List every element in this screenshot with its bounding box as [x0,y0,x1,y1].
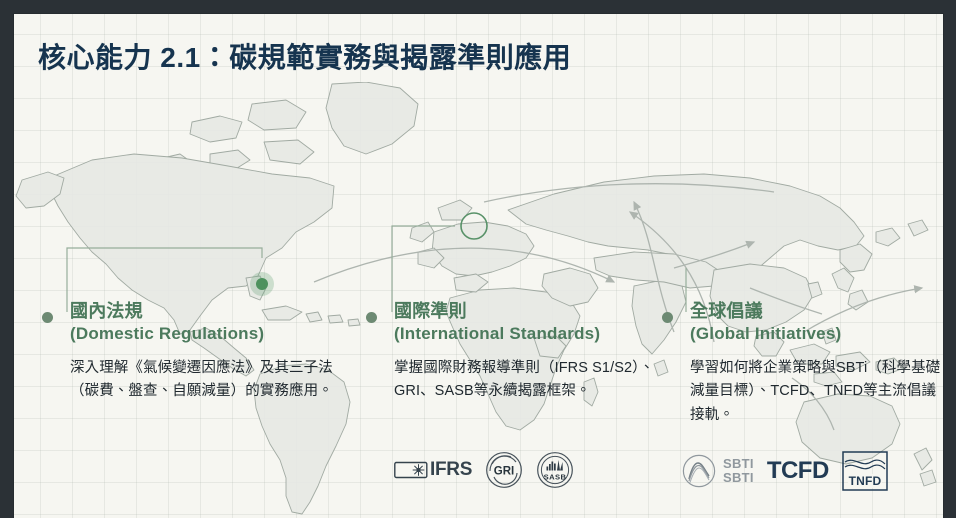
column-body-text: 深入理解《氣候變遷因應法》及其三子法（碳費、盤查、自願減量）的實務應用。 [70,357,338,404]
slide-canvas: .land{fill:#e7e9e5;stroke:#9aa49c;stroke… [14,14,943,518]
sbti-logo: SBTI SBTI [682,454,754,488]
tcfd-logo: TCFD [767,457,829,485]
tnfd-logo: TNFD [842,451,888,491]
svg-text:SASB: SASB [544,473,567,482]
svg-text:GRI: GRI [494,465,514,477]
bullet-dot-icon [662,312,673,323]
column-domestic-regulations: 國內法規 (Domestic Regulations) 深入理解《氣候變遷因應法… [42,300,342,404]
sasb-logo: SASB [536,451,574,489]
column-body-text: 掌握國際財務報導準則（IFRS S1/S2）、GRI、SASB等永續揭露框架。 [394,357,662,404]
column-heading-zh: 全球倡議 [690,301,763,321]
ifrs-logo: IFRS [394,459,472,481]
sasb-mark-icon: SASB [536,451,574,489]
column-heading-zh: 國際準則 [394,301,467,321]
column-heading-en: (International Standards) [394,323,666,345]
standards-logo-group: IFRS GRI [394,451,574,489]
column-heading-en: (Domestic Regulations) [70,323,342,345]
gri-mark-icon: GRI [485,451,523,489]
gri-logo: GRI [485,451,523,489]
sbti-mark-icon [682,454,716,488]
column-heading: 全球倡議 (Global Initiatives) [690,300,942,345]
column-heading: 國際準則 (International Standards) [394,300,666,345]
tcfd-logo-label: TCFD [767,457,829,485]
tnfd-mark-icon: TNFD [842,451,888,491]
sbti-logo-label: SBTI SBTI [723,457,754,484]
column-heading-zh: 國內法規 [70,301,143,321]
ifrs-logo-label: IFRS [430,459,472,481]
column-global-initiatives: 全球倡議 (Global Initiatives) 學習如何將企業策略與SBTi… [662,300,942,427]
ifrs-mark-icon [394,460,428,480]
column-body-text: 學習如何將企業策略與SBTi（科學基礎減量目標）、TCFD、TNFD等主流倡議接… [690,357,942,427]
column-international-standards: 國際準則 (International Standards) 掌握國際財務報導準… [366,300,666,404]
initiatives-logo-group: SBTI SBTI TCFD TNFD [682,451,888,491]
sbti-label-line2: SBTI [723,470,754,485]
column-heading: 國內法規 (Domestic Regulations) [70,300,342,345]
bullet-dot-icon [42,312,53,323]
column-heading-en: (Global Initiatives) [690,323,942,345]
page-title: 核心能力 2.1：碳規範實務與揭露準則應用 [38,36,571,76]
bullet-dot-icon [366,312,377,323]
svg-text:TNFD: TNFD [848,474,881,488]
grid-background [14,14,943,518]
